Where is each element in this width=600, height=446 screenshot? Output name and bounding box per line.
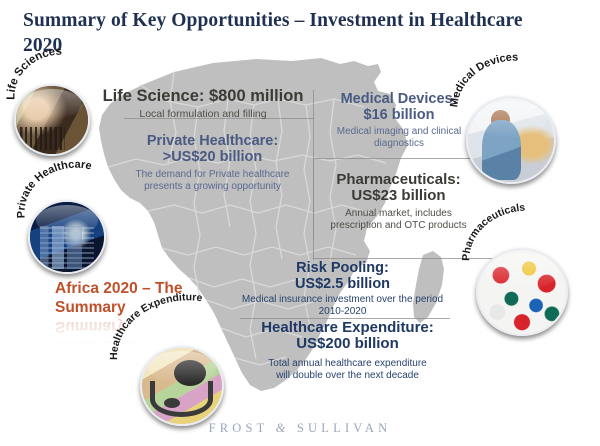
bubble-private-healthcare[interactable]: Private Healthcare	[18, 178, 126, 274]
risk-pooling-detail: Medical insurance investment over the pe…	[240, 294, 445, 316]
opportunity-private-healthcare: Private Healthcare: >US$20 billion The d…	[110, 134, 315, 192]
life-science-detail: Local formulation and filling	[92, 109, 314, 121]
page-title: Summary of Key Opportunities – Investmen…	[23, 8, 543, 58]
footer-brand-ampersand: &	[276, 421, 290, 435]
life-sciences-photo	[14, 84, 90, 156]
healthcare-expenditure-heading-1: Healthcare Expenditure:	[240, 320, 455, 336]
private-healthcare-heading-2: >US$20 billion	[110, 150, 315, 166]
bubble-pharmaceuticals[interactable]: Pharmaceuticals	[466, 226, 592, 338]
bubble-healthcare-expenditure[interactable]: Healthcare Expenditure	[112, 322, 264, 426]
life-science-heading: Life Science: $800 million	[92, 88, 314, 106]
opportunity-healthcare-expenditure: Healthcare Expenditure: US$200 billion T…	[240, 320, 455, 381]
pharmaceuticals-photo	[476, 248, 568, 336]
pharmaceuticals-detail: Annual market, includes prescription and…	[306, 208, 491, 230]
slide-canvas: Summary of Key Opportunities – Investmen…	[0, 0, 600, 446]
opportunity-risk-pooling: Risk Pooling: US$2.5 billion Medical ins…	[240, 261, 445, 317]
healthcare-expenditure-photo	[140, 346, 224, 426]
footer-brand: FROST & SULLIVAN	[0, 421, 600, 436]
medical-devices-photo	[466, 96, 556, 184]
private-healthcare-detail: The demand for Private healthcare presen…	[110, 169, 315, 191]
bubble-life-sciences[interactable]: Life Sciences	[6, 64, 106, 156]
risk-pooling-heading-2: US$2.5 billion	[240, 277, 445, 293]
private-healthcare-photo	[28, 200, 106, 274]
private-healthcare-heading-1: Private Healthcare:	[110, 134, 315, 150]
bubble-medical-devices[interactable]: Medical Devices	[452, 76, 580, 184]
healthcare-expenditure-heading-2: US$200 billion	[240, 336, 455, 352]
risk-pooling-heading-1: Risk Pooling:	[240, 261, 445, 277]
footer-brand-sullivan: SULLIVAN	[297, 421, 391, 435]
opportunity-life-science: Life Science: $800 million Local formula…	[92, 88, 314, 121]
pharmaceuticals-heading-2: US$23 billion	[306, 188, 491, 204]
healthcare-expenditure-detail: Total annual healthcare expenditure will…	[240, 358, 455, 380]
footer-brand-frost: FROST	[209, 421, 269, 435]
